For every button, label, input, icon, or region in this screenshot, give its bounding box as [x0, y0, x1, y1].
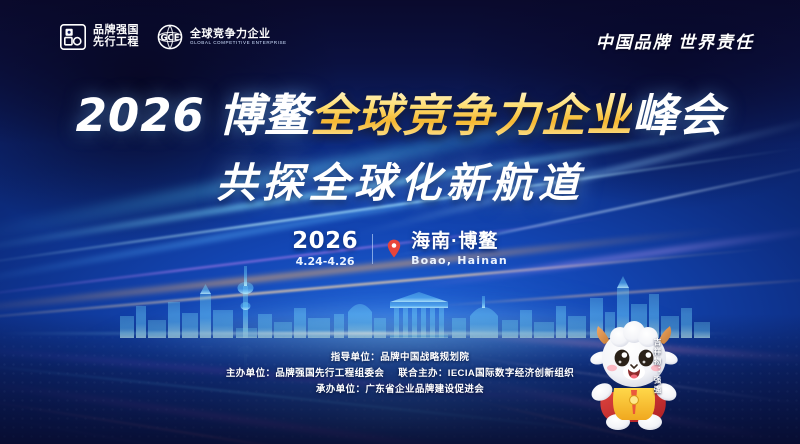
location-en: Boao, Hainan — [411, 255, 508, 266]
event-meta: 2026 4.24-4.26 海南·博鳌 Boao, Hainan — [0, 230, 800, 267]
title-year: 2026 — [76, 89, 205, 142]
pinpai-qiangguo-logo-text: 品牌强国 先行工程 — [93, 25, 139, 49]
title-white-part-1: 博鳌 — [218, 90, 310, 141]
location-cn: 海南·博鳌 — [411, 232, 508, 251]
box-cube-icon — [60, 24, 86, 50]
logo-line-en: GLOBAL COMPETITIVE ENTERPRISE — [190, 41, 299, 46]
brand-slogan: 中国品牌 世界责任 — [596, 28, 754, 53]
pinpai-qiangguo-logo: 品牌强国 先行工程 — [60, 24, 139, 50]
goat-mascot-icon — [578, 318, 690, 436]
organizer-cohost: 联合主办：IECIA国际数字经济创新组织 — [398, 368, 574, 379]
event-date: 2026 4.24-4.26 — [292, 230, 358, 267]
organizer-host: 主办单位：品牌强国先行工程组委会 — [226, 368, 384, 379]
event-date-range: 4.24-4.26 — [296, 256, 355, 267]
event-year: 2026 — [292, 230, 358, 253]
poster-canvas: 品牌强国 先行工程 GCE 全球竞争力企业 GLOBAL COMPETITIVE… — [0, 0, 800, 444]
meta-divider — [372, 234, 373, 264]
sponsor-logo-group: 品牌强国 先行工程 GCE 全球竞争力企业 GLOBAL COMPETITIVE… — [60, 24, 271, 50]
event-location: 海南·博鳌 Boao, Hainan — [411, 232, 508, 266]
mascot-label: 吉祥物：强强 — [652, 338, 663, 395]
poster-content: 品牌强国 先行工程 GCE 全球竞争力企业 GLOBAL COMPETITIVE… — [0, 0, 800, 444]
page-title: 2026 博鳌全球竞争力企业峰会 — [0, 93, 800, 138]
title-white-part-2: 峰会 — [632, 90, 724, 141]
gce-logo: GCE 全球竞争力企业 GLOBAL COMPETITIVE ENTERPRIS… — [157, 24, 271, 50]
map-pin-icon — [387, 239, 401, 258]
title-gold-part: 全球竞争力企业 — [310, 90, 632, 141]
logo-line-2: 先行工程 — [93, 37, 139, 49]
globe-gce-icon: GCE — [157, 24, 183, 50]
gce-logo-text: 全球竞争力企业 GLOBAL COMPETITIVE ENTERPRISE — [190, 29, 271, 46]
logo-line-1: 全球竞争力企业 — [190, 29, 271, 41]
page-subtitle: 共探全球化新航道 — [0, 163, 800, 204]
svg-text:GCE: GCE — [160, 34, 179, 44]
